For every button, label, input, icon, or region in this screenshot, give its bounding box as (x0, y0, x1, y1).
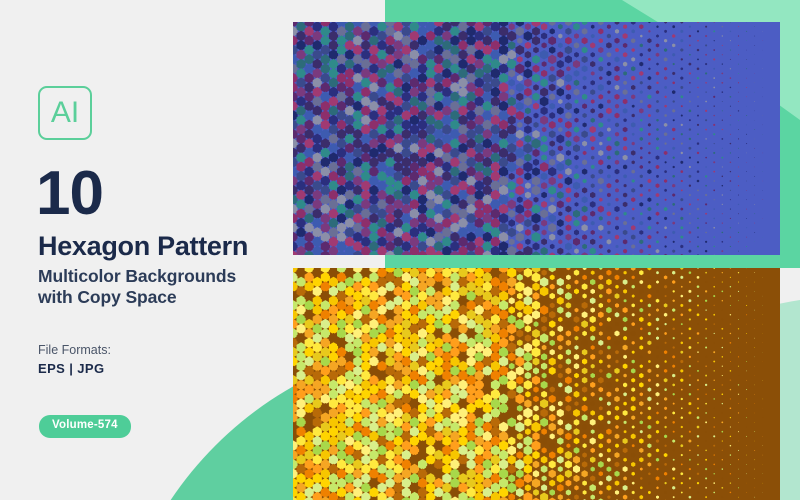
blue-hexagon-preview[interactable] (293, 22, 780, 255)
item-count: 10 (36, 163, 103, 225)
page-subtitle-line-1: Multicolor Backgrounds (38, 266, 288, 287)
yellow-hexagon-pattern-svg (293, 268, 780, 500)
page-subtitle: Multicolor Backgrounds with Copy Space (38, 266, 288, 309)
info-column: AI 10 Hexagon Pattern Multicolor Backgro… (0, 0, 290, 500)
page-title: Hexagon Pattern (38, 233, 248, 260)
file-formats-label: File Formats: (38, 344, 111, 357)
yellow-hexagon-preview[interactable] (293, 268, 780, 500)
page-subtitle-line-2: with Copy Space (38, 287, 288, 308)
volume-badge: Volume-574 (39, 415, 131, 438)
adobe-illustrator-label: AI (51, 98, 79, 128)
product-preview-canvas: AI 10 Hexagon Pattern Multicolor Backgro… (0, 0, 800, 500)
blue-hexagon-pattern-svg (293, 22, 780, 255)
adobe-illustrator-icon: AI (38, 86, 92, 140)
file-formats-value: EPS | JPG (38, 362, 105, 375)
